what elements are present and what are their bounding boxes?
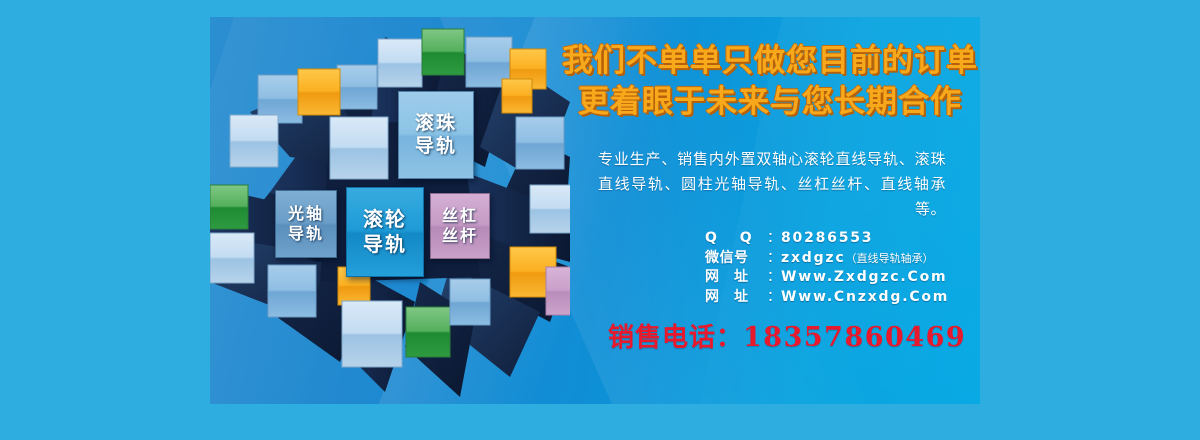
contact-label: 网 址 (705, 288, 767, 308)
banner-text-column: 我们不单单只做您目前的订单 更着眼于未来与您长期合作 专业生产、销售内外置双轴心… (560, 17, 980, 404)
contact-separator: ： (767, 249, 781, 269)
cube-label-line1: 光轴 (288, 204, 324, 224)
cube-label-gunzhu-daogui: 滚珠 导轨 (398, 91, 474, 179)
banner-stage: 滚珠 导轨 光轴 导轨 滚轮 导轨 丝杠 丝杆 我们不单单只做您目前的订单 更着… (0, 0, 1200, 440)
contact-value-website-1[interactable]: Www.Zxdgzc.Com (781, 268, 947, 288)
contact-row-website-1: 网 址 ： Www.Zxdgzc.Com (705, 268, 980, 288)
contact-label: 网 址 (705, 268, 767, 288)
cube-label-line2: 导轨 (415, 135, 457, 158)
promo-banner: 滚珠 导轨 光轴 导轨 滚轮 导轨 丝杠 丝杆 我们不单单只做您目前的订单 更着… (210, 17, 980, 404)
contact-note-wechat: （直线导轨轴承） (845, 249, 933, 269)
headline-line-1: 我们不单单只做您目前的订单 (560, 41, 980, 82)
cube-label-line1: 丝杠 (442, 206, 478, 226)
contact-separator: ： (767, 288, 781, 308)
contact-separator: ： (767, 229, 781, 249)
contact-value-wechat: zxdgzc (781, 249, 845, 269)
cube-label-line1: 滚轮 (363, 207, 407, 232)
contact-row-website-2: 网 址 ： Www.Cnzxdg.Com (705, 288, 980, 308)
cube-label-line2: 导轨 (363, 232, 407, 257)
cube-label-line1: 滚珠 (415, 112, 457, 135)
sales-phone: 销售电话：18357860469 (608, 317, 980, 354)
cube-explosion-graphic: 滚珠 导轨 光轴 导轨 滚轮 导轨 丝杠 丝杆 (210, 17, 570, 404)
contact-value-website-2[interactable]: Www.Cnzxdg.Com (781, 288, 949, 308)
contact-row-qq: Q Q ： 80286553 (705, 229, 980, 249)
headline: 我们不单单只做您目前的订单 更着眼于未来与您长期合作 (560, 41, 980, 123)
contact-value-qq: 80286553 (781, 229, 873, 249)
contact-info-block: Q Q ： 80286553 微信号 ： zxdgzc （直线导轨轴承） 网 址… (705, 229, 980, 307)
contact-row-wechat: 微信号 ： zxdgzc （直线导轨轴承） (705, 249, 980, 269)
headline-line-2: 更着眼于未来与您长期合作 (560, 82, 980, 123)
contact-label: Q Q (705, 229, 767, 249)
contact-label: 微信号 (705, 249, 767, 269)
cube-label-sigang-sigan: 丝杠 丝杆 (430, 193, 490, 259)
description-text: 专业生产、销售内外置双轴心滚轮直线导轨、滚珠直线导轨、圆柱光轴导轨、丝杠丝杆、直… (598, 147, 946, 222)
cube-label-line2: 导轨 (288, 224, 324, 244)
sales-phone-number: 18357860469 (743, 322, 966, 353)
cube-label-guangzhou-daogui: 光轴 导轨 (275, 190, 337, 258)
sales-phone-label: 销售电话： (608, 323, 743, 353)
cube-label-gunlun-daogui: 滚轮 导轨 (346, 187, 424, 277)
contact-separator: ： (767, 268, 781, 288)
cube-label-line2: 丝杆 (442, 226, 478, 246)
